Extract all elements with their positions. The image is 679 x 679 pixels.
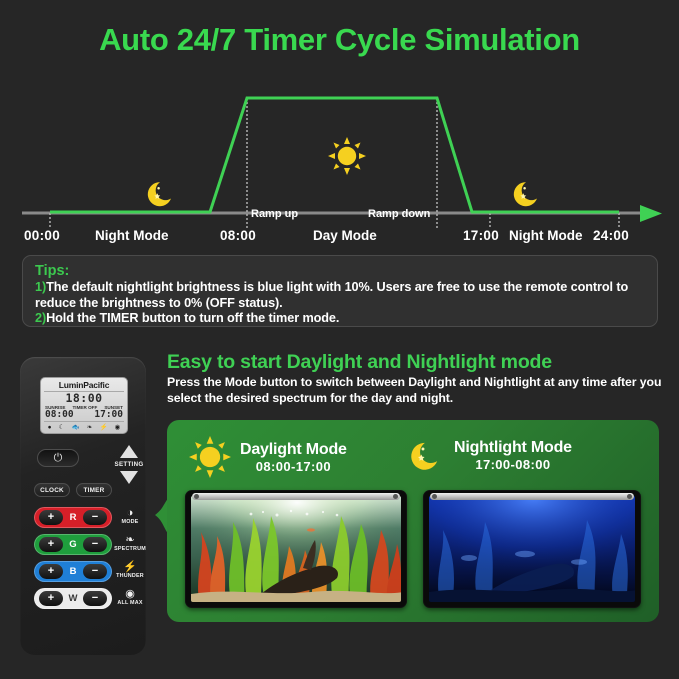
daylight-mode-texts: Daylight Mode 08:00-17:00 xyxy=(240,440,347,474)
setting-label: SETTING xyxy=(112,461,146,468)
moon-icon xyxy=(510,176,544,210)
axis-arrow-icon xyxy=(640,205,662,222)
white-plus-button[interactable]: + xyxy=(39,591,63,606)
all-max-icon: ◉ xyxy=(112,588,148,600)
daylight-mode-name: Daylight Mode xyxy=(240,440,347,459)
lightning-icon: ⚡ xyxy=(99,423,107,431)
moon-icon xyxy=(407,436,445,474)
daylight-led-bar-icon xyxy=(192,493,400,500)
plant-icon: ❧ xyxy=(87,423,92,431)
color-row-red[interactable]: + R − xyxy=(34,507,112,528)
annotation-ramp-up: Ramp up xyxy=(251,208,298,220)
lcd-status-icons: ● ☾ 🐟 ❧ ⚡ ◉ xyxy=(44,421,124,431)
green-letter: G xyxy=(69,539,76,550)
nightlight-mode-texts: Nightlight Mode 17:00-08:00 xyxy=(454,438,572,472)
tips-box: Tips: 1)The default nightlight brightnes… xyxy=(22,255,658,327)
thunder-icon: ⚡ xyxy=(112,561,148,573)
tick-label-0000: 00:00 xyxy=(24,228,60,243)
red-letter: R xyxy=(70,512,77,523)
modes-panel: Daylight Mode 08:00-17:00 Nightlight Mod… xyxy=(167,420,659,622)
easy-section-title: Easy to start Daylight and Nightlight mo… xyxy=(167,351,552,374)
up-arrow-icon[interactable] xyxy=(120,445,138,458)
color-row-blue[interactable]: + B − xyxy=(34,561,112,582)
spectrum-button[interactable]: ❧ SPECTRUM xyxy=(112,534,148,552)
segment-label-night-2: Night Mode xyxy=(509,228,583,243)
sun-icon xyxy=(328,137,366,175)
segment-label-day: Day Mode xyxy=(313,228,377,243)
white-letter: W xyxy=(69,593,78,604)
timer-button[interactable]: TIMER xyxy=(76,483,112,497)
sun-icon: ◉ xyxy=(115,423,121,431)
page-title: Auto 24/7 Timer Cycle Simulation xyxy=(0,22,679,58)
down-arrow-icon[interactable] xyxy=(120,471,138,484)
daylight-aquarium-image xyxy=(185,490,407,608)
setting-control: SETTING xyxy=(112,445,146,484)
spectrum-button-label: SPECTRUM xyxy=(112,546,148,552)
white-minus-button[interactable]: − xyxy=(83,591,107,606)
nightlight-mode-header: Nightlight Mode 17:00-08:00 xyxy=(407,436,572,474)
power-button[interactable]: ⏻ xyxy=(37,449,79,467)
nightlight-led-bar-icon xyxy=(430,493,634,500)
tick-label-0800: 08:00 xyxy=(220,228,256,243)
daylight-mode-header: Daylight Mode 08:00-17:00 xyxy=(189,436,347,478)
crescent-icon: ☾ xyxy=(59,423,65,431)
nightlight-mode-name: Nightlight Mode xyxy=(454,438,572,457)
callout-tail-icon xyxy=(141,497,169,535)
red-minus-button[interactable]: − xyxy=(83,510,107,525)
all-max-button-label: ALL MAX xyxy=(112,600,148,606)
green-plus-button[interactable]: + xyxy=(39,537,63,552)
tips-item-1: 1)The default nightlight brightness is b… xyxy=(35,280,645,311)
tips-item-2: 2)Hold the TIMER button to turn off the … xyxy=(35,311,645,327)
color-row-white[interactable]: + W − xyxy=(34,588,112,609)
all-max-button[interactable]: ◉ ALL MAX xyxy=(112,588,148,606)
green-minus-button[interactable]: − xyxy=(83,537,107,552)
lcd-sunset-value: 17:00 xyxy=(94,410,123,420)
fish-icon: 🐟 xyxy=(72,423,80,431)
sun-icon xyxy=(189,436,231,478)
remote-lcd-screen: LuminPacific 18:00 SUNRISE TIMER OFF SUN… xyxy=(40,377,128,434)
color-row-green[interactable]: + G − xyxy=(34,534,112,555)
blue-minus-button[interactable]: − xyxy=(83,564,107,579)
red-plus-button[interactable]: + xyxy=(39,510,63,525)
annotation-ramp-down: Ramp down xyxy=(368,208,430,220)
thunder-button-label: THUNDER xyxy=(112,573,148,579)
spectrum-icon: ❧ xyxy=(112,534,148,546)
tick-label-1700: 17:00 xyxy=(463,228,499,243)
page-root: Auto 24/7 Timer Cycle Simulation xyxy=(0,0,679,679)
moon-full-icon: ● xyxy=(48,424,52,431)
tick-label-2400: 24:00 xyxy=(593,228,629,243)
daylight-mode-time: 08:00-17:00 xyxy=(240,459,347,474)
blue-letter: B xyxy=(70,566,77,577)
lcd-sunrise-value: 08:00 xyxy=(45,410,74,420)
tips-title: Tips: xyxy=(35,263,645,280)
lcd-values-row: 08:00 17:00 xyxy=(44,410,124,420)
moon-icon xyxy=(144,176,178,210)
nightlight-aquarium-image xyxy=(423,490,641,608)
lcd-main-time: 18:00 xyxy=(44,392,124,405)
segment-label-night-1: Night Mode xyxy=(95,228,169,243)
timer-cycle-chart: Ramp up Ramp down 00:00 08:00 17:00 24:0… xyxy=(0,82,679,244)
thunder-button[interactable]: ⚡ THUNDER xyxy=(112,561,148,579)
tips-item-2-number: 2) xyxy=(35,311,46,325)
easy-section-subtitle: Press the Mode button to switch between … xyxy=(167,375,667,406)
nightlight-tank-scene xyxy=(429,496,635,602)
remote-control: LuminPacific 18:00 SUNRISE TIMER OFF SUN… xyxy=(20,357,146,655)
tips-item-2-text: Hold the TIMER button to turn off the ti… xyxy=(46,311,339,325)
nightlight-mode-time: 17:00-08:00 xyxy=(454,457,572,472)
tips-item-1-text: The default nightlight brightness is blu… xyxy=(35,280,628,310)
blue-plus-button[interactable]: + xyxy=(39,564,63,579)
daylight-tank-scene xyxy=(191,496,401,602)
tips-item-1-number: 1) xyxy=(35,280,46,294)
clock-button[interactable]: CLOCK xyxy=(34,483,70,497)
